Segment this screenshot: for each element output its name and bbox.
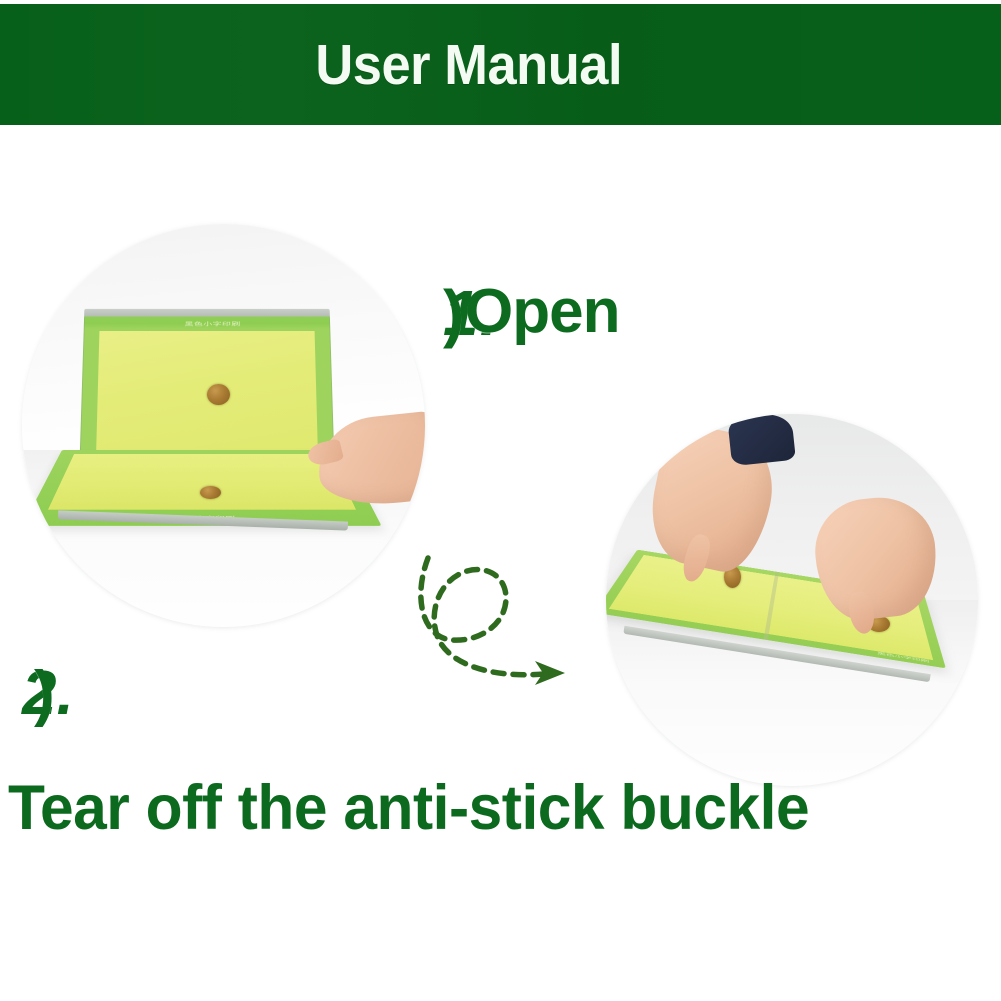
step-1-label: Open [465,276,619,347]
page-title: User Manual [315,32,622,98]
trap-cardboard-edge [84,309,330,317]
trap-standing-panel: 黑色小字印刷 [80,316,334,455]
user-manual-page: User Manual 黑色小字印刷 黑色小字印刷 1. ) Open [0,0,1001,1001]
anti-stick-buckle-lower [200,486,221,499]
step-2-label: Tear off the anti-stick buckle [8,772,809,844]
anti-stick-buckle-upper [207,384,230,405]
trap-printed-band-text-top: 黑色小字印刷 [185,320,241,327]
step-2-paren: ) [34,658,55,729]
step-1-paren: ) [443,276,464,350]
header-banner: User Manual [0,4,1001,125]
trap-sticky-surface-lower [48,454,356,510]
step-2-photo-tear: 黑色小字印刷 [606,414,978,786]
step-1-photo-open: 黑色小字印刷 黑色小字印刷 [22,224,425,627]
flow-arrow-icon [402,528,622,708]
sleeve-cuff [727,414,796,466]
